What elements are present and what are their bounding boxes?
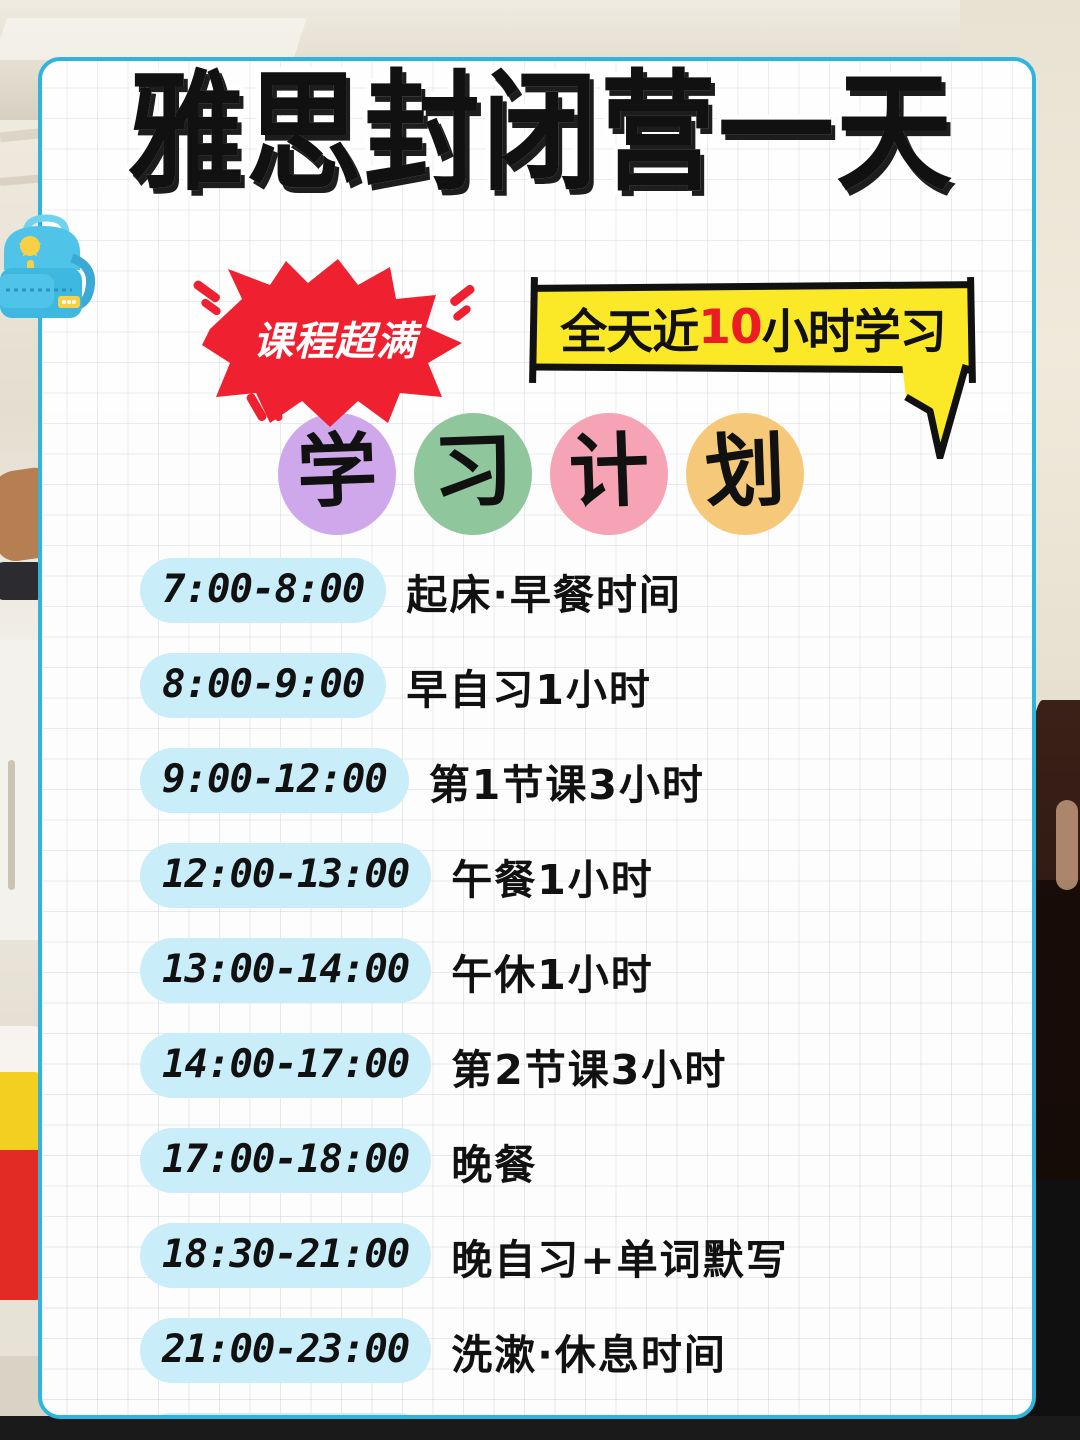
banner-text: 全天近10小时学习	[536, 287, 970, 367]
activity-text: 洗漱·休息时间	[451, 1321, 727, 1381]
section-circle-3: 计	[550, 413, 668, 535]
activity-text: 晚餐	[451, 1131, 537, 1191]
highlight-banner: 全天近10小时学习	[522, 277, 984, 377]
time-text: 12:00-13:00	[162, 852, 409, 897]
time-pill: 9:00-12:00	[140, 748, 409, 813]
schedule-row: 18:30-21:00 晚自习+单词默写	[42, 1208, 1036, 1303]
activity-text: 第2节课3小时	[451, 1036, 727, 1096]
section-circle-char-1: 学	[296, 431, 379, 514]
note-card: 雅思封闭营一天 课程超满 全天近10小时学习	[38, 57, 1036, 1419]
activity-text: 早自习1小时	[406, 656, 652, 716]
activity-text: 午餐1小时	[451, 846, 654, 906]
activity-text: 晚自习+单词默写	[451, 1226, 788, 1286]
schedule-row: 21:00-23:00 洗漱·休息时间	[42, 1303, 1036, 1398]
activity-text: 起床·早餐时间	[406, 561, 682, 621]
time-pill: 18:30-21:00	[140, 1223, 431, 1288]
schedule-row: 8:00-9:00 早自习1小时	[42, 638, 1036, 733]
schedule-row: 7:00-8:00 起床·早餐时间	[42, 543, 1036, 638]
activity-text: 第1节课3小时	[429, 751, 705, 811]
bg-person-shirt	[1030, 1180, 1080, 1440]
section-heading-circles: 学 习 计 划	[42, 413, 1036, 535]
time-pill: 13:00-14:00	[140, 938, 431, 1003]
bg-person-face	[1056, 800, 1078, 890]
activity-text: 就寝时间	[451, 1416, 623, 1420]
speech-tail-icon	[900, 363, 986, 459]
schedule-row: 13:00-14:00 午休1小时	[42, 923, 1036, 1018]
section-circle-2: 习	[414, 413, 532, 535]
schedule-row: 23:00-07:00 就寝时间	[42, 1398, 1036, 1419]
title-text: 雅思封闭营一天	[128, 61, 954, 206]
schedule-row: 17:00-18:00 晚餐	[42, 1113, 1036, 1208]
banner-suffix: 小时学习	[762, 293, 946, 362]
time-text: 21:00-23:00	[162, 1327, 409, 1372]
section-circle-char-2: 习	[432, 431, 515, 514]
bg-cabinet-handle	[8, 760, 15, 890]
bg-ceiling-panel	[0, 18, 307, 60]
time-text: 18:30-21:00	[162, 1232, 409, 1277]
section-circle-char-4: 划	[704, 431, 787, 514]
activity-text: 午休1小时	[451, 941, 654, 1001]
time-pill: 12:00-13:00	[140, 843, 431, 908]
banner-prefix: 全天近	[560, 293, 698, 362]
time-pill: 17:00-18:00	[140, 1128, 431, 1193]
schedule-row: 9:00-12:00 第1节课3小时	[42, 733, 1036, 828]
badge-label: 课程超满	[190, 309, 480, 367]
page-title: 雅思封闭营一天	[42, 69, 1036, 199]
schedule-list: 7:00-8:00 起床·早餐时间 8:00-9:00 早自习1小时 9:00-…	[42, 543, 1036, 1419]
time-text: 13:00-14:00	[162, 947, 409, 992]
time-text: 7:00-8:00	[162, 567, 364, 612]
time-pill: 21:00-23:00	[140, 1318, 431, 1383]
backpack-icon	[0, 208, 100, 330]
time-text: 14:00-17:00	[162, 1042, 409, 1087]
schedule-row: 12:00-13:00 午餐1小时	[42, 828, 1036, 923]
time-pill: 14:00-17:00	[140, 1033, 431, 1098]
status-badge: 课程超满	[190, 257, 480, 429]
section-circle-char-3: 计	[568, 431, 651, 514]
time-pill: 8:00-9:00	[140, 653, 386, 718]
bg-bottom-bar	[0, 1416, 1080, 1440]
schedule-row: 14:00-17:00 第2节课3小时	[42, 1018, 1036, 1113]
banner-highlight: 10	[698, 300, 761, 355]
section-circle-4: 划	[686, 413, 804, 535]
time-pill: 23:00-07:00	[140, 1413, 431, 1419]
section-circle-1: 学	[278, 413, 396, 535]
time-text: 17:00-18:00	[162, 1137, 409, 1182]
time-text: 9:00-12:00	[162, 757, 387, 802]
time-pill: 7:00-8:00	[140, 558, 386, 623]
time-text: 8:00-9:00	[162, 662, 364, 707]
